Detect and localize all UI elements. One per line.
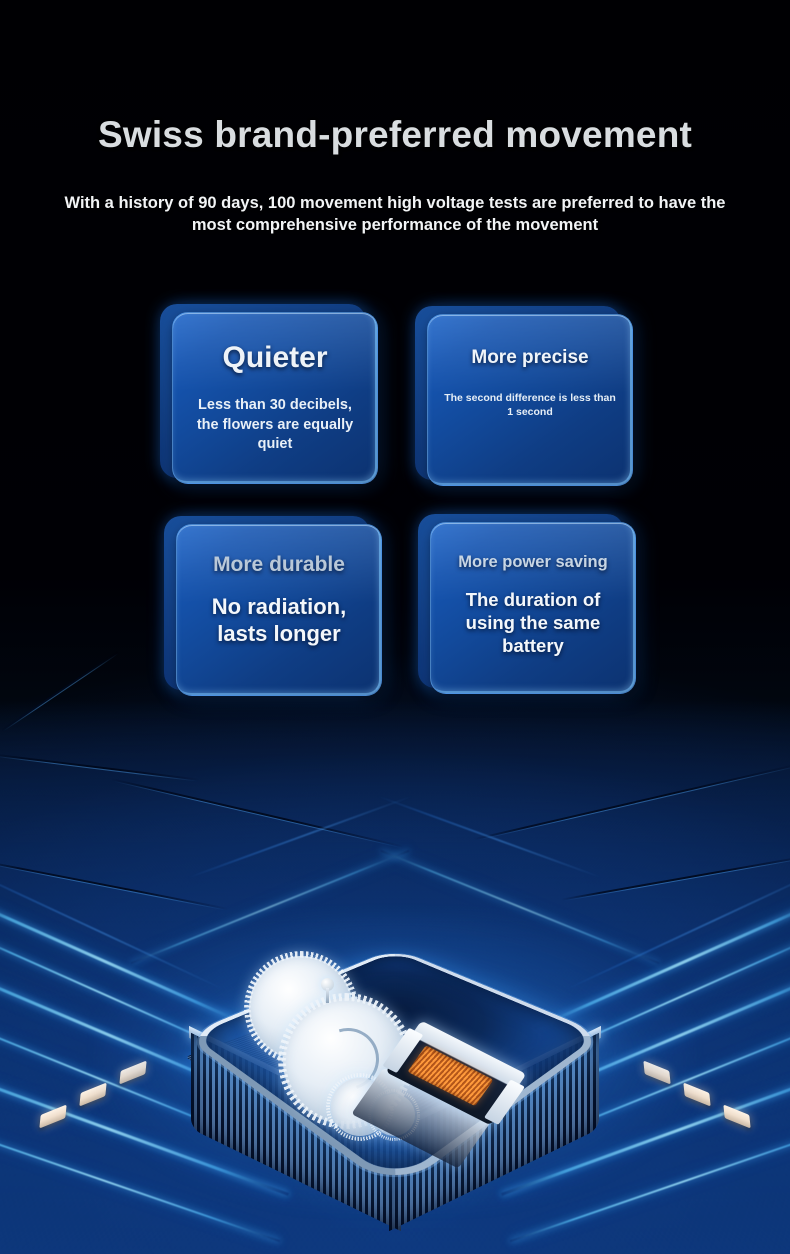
page-title: Swiss brand-preferred movement — [0, 114, 790, 156]
feature-card-body: The duration of using the same battery — [445, 588, 621, 657]
feature-card-more-power-saving[interactable]: More power saving The duration of using … — [430, 522, 636, 694]
feature-card-slot: More durable No radiation, lasts longer — [164, 516, 386, 702]
feature-card-more-precise[interactable]: More precise The second difference is le… — [427, 314, 633, 486]
feature-card-quieter[interactable]: Quieter Less than 30 decibels, the flowe… — [172, 312, 378, 484]
feature-card-more-durable[interactable]: More durable No radiation, lasts longer — [176, 524, 382, 696]
feature-card-title: More durable — [213, 553, 345, 577]
feature-card-slot: More power saving The duration of using … — [418, 514, 640, 700]
feature-card-title: More power saving — [458, 553, 607, 572]
feature-card-slot: Quieter Less than 30 decibels, the flowe… — [160, 304, 382, 490]
promo-page: Swiss brand-preferred movement With a hi… — [0, 0, 790, 1254]
page-subtitle: With a history of 90 days, 100 movement … — [62, 193, 728, 237]
feature-card-title: Quieter — [222, 341, 327, 374]
feature-card-grid: Quieter Less than 30 decibels, the flowe… — [160, 304, 650, 704]
feature-card-body: No radiation, lasts longer — [191, 593, 367, 648]
feature-card-body: The second difference is less than 1 sec… — [442, 391, 618, 419]
feature-card-body: Less than 30 decibels, the flowers are e… — [187, 396, 363, 455]
feature-card-slot: More precise The second difference is le… — [415, 306, 637, 492]
feature-card-title: More precise — [471, 347, 588, 369]
content-overlay: Swiss brand-preferred movement With a hi… — [0, 0, 790, 1254]
